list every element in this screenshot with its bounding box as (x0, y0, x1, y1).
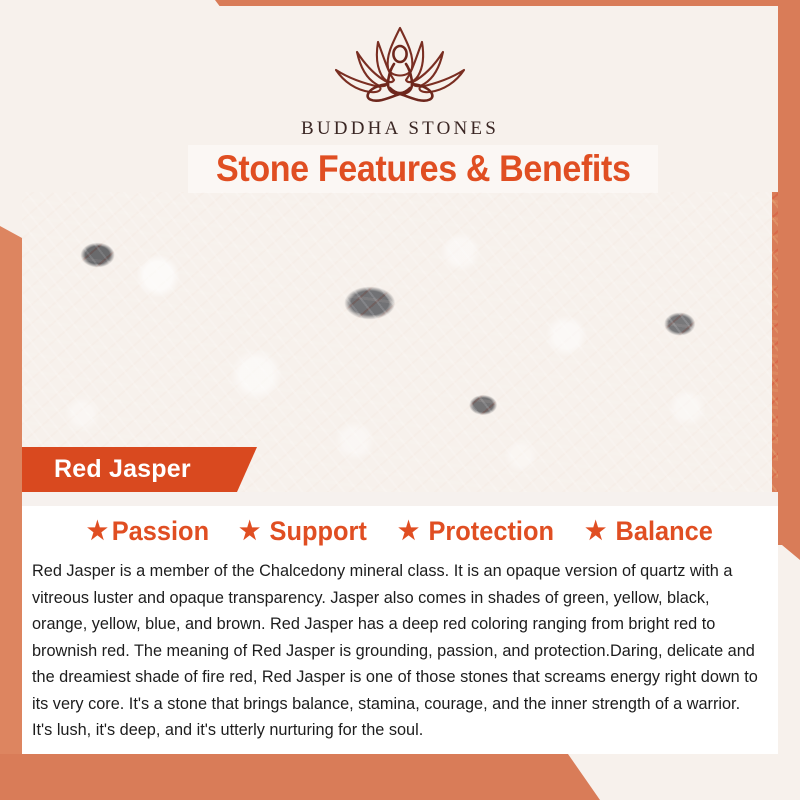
feature-label: Balance (615, 516, 712, 547)
feature-label: Passion (112, 516, 209, 547)
star-icon: ★ (87, 519, 108, 544)
star-icon: ★ (239, 519, 260, 544)
stone-name: Red Jasper (54, 455, 191, 484)
card-top-divider (22, 492, 778, 506)
star-icon: ★ (585, 519, 606, 544)
feature-item-protection: ★ Protection (398, 516, 554, 547)
feature-item-support: ★ Support (239, 516, 367, 547)
bottom-decorative-bar (0, 754, 800, 800)
page-title: Stone Features & Benefits (216, 148, 631, 190)
infographic-page: BUDDHA STONES Stone Features & Benefits … (0, 0, 800, 800)
brand-logo: BUDDHA STONES (22, 22, 778, 140)
stone-description: Red Jasper is a member of the Chalcedony… (32, 558, 758, 744)
brand-name: BUDDHA STONES (301, 118, 499, 140)
page-title-band: Stone Features & Benefits (188, 145, 658, 193)
feature-label: Support (270, 516, 367, 547)
stone-name-banner: Red Jasper (22, 447, 257, 492)
feature-label: Protection (428, 516, 554, 547)
feature-list: ★ Passion ★ Support ★ Protection ★ Balan… (22, 516, 778, 547)
star-icon: ★ (398, 519, 419, 544)
feature-item-passion: ★ Passion (87, 516, 209, 547)
left-decorative-bar (0, 226, 22, 774)
feature-item-balance: ★ Balance (585, 516, 713, 547)
content-card: ★ Passion ★ Support ★ Protection ★ Balan… (22, 492, 778, 754)
lotus-meditation-icon (316, 22, 484, 114)
header: BUDDHA STONES Stone Features & Benefits (22, 6, 778, 192)
